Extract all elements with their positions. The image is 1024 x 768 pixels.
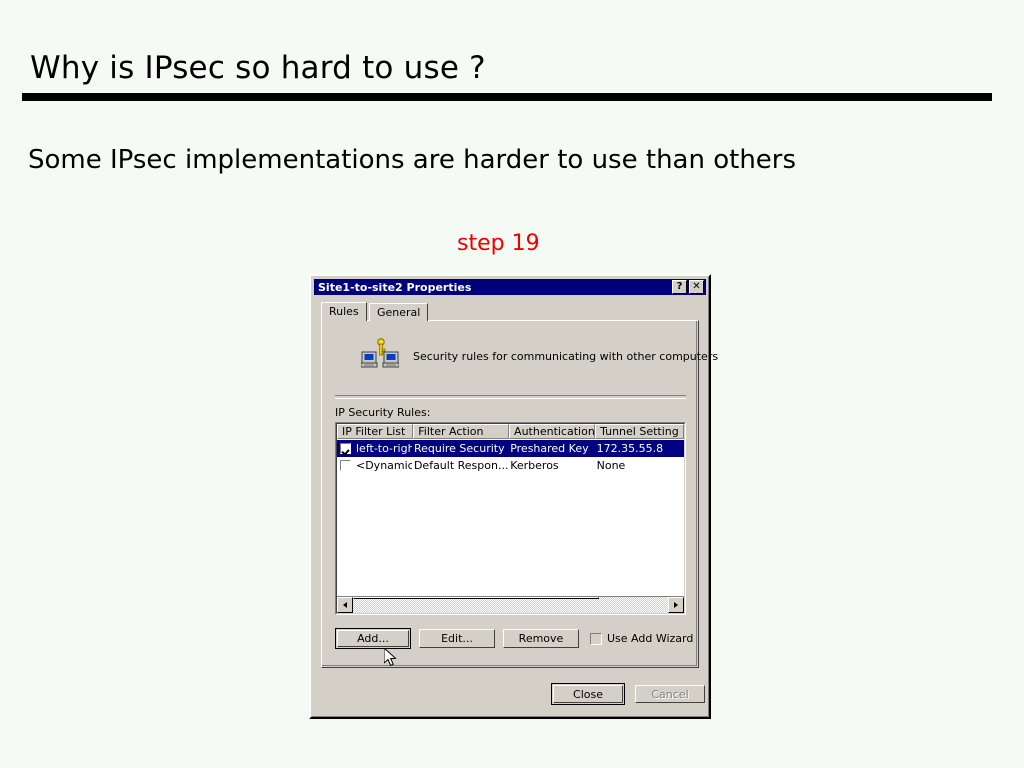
ip-security-rules-label: IP Security Rules: [335, 406, 430, 419]
listview-inner: IP Filter List Filter Action Authenticat… [336, 423, 685, 614]
table-row[interactable]: left-to-right Require Security Preshared… [337, 440, 684, 457]
properties-dialog: Site1-to-site2 Properties ? ✕ Rules Gene… [309, 274, 711, 719]
column-header-tunnel-setting[interactable]: Tunnel Setting [595, 424, 684, 439]
row-checkbox[interactable] [340, 443, 351, 454]
ip-security-rules-listview[interactable]: IP Filter List Filter Action Authenticat… [335, 422, 686, 615]
remove-button[interactable]: Remove [503, 629, 579, 648]
cell-ip-filter-list: left-to-right [354, 442, 412, 455]
cancel-button: Cancel [635, 685, 705, 703]
tab-page-rules: Security rules for communicating with ot… [321, 320, 699, 668]
column-header-filter-action[interactable]: Filter Action [413, 424, 509, 439]
cell-tunnel-setting: None [595, 459, 684, 472]
title-underline-rule [22, 93, 992, 101]
close-button[interactable]: Close [553, 685, 623, 703]
security-rules-banner: Security rules for communicating with ot… [335, 336, 686, 384]
two-computers-key-icon [361, 338, 399, 372]
step-label: step 19 [457, 231, 540, 256]
dialog-title-text: Site1-to-site2 Properties [318, 281, 471, 294]
use-add-wizard-checkbox[interactable] [590, 633, 602, 645]
scroll-left-arrow-icon[interactable] [337, 597, 353, 613]
edit-button-wrapper: Edit... [419, 628, 495, 649]
page-title: Why is IPsec so hard to use ? [30, 50, 486, 86]
cancel-button-wrapper: Cancel [633, 683, 707, 705]
tab-page-inner: Security rules for communicating with ot… [322, 321, 697, 666]
dialog-inner-frame: Site1-to-site2 Properties ? ✕ Rules Gene… [311, 276, 709, 717]
cell-authentication: Preshared Key [508, 442, 594, 455]
tab-strip: Rules General [321, 303, 699, 321]
scrollbar-track[interactable] [353, 597, 668, 613]
listview-header: IP Filter List Filter Action Authenticat… [337, 424, 684, 439]
dialog-titlebar[interactable]: Site1-to-site2 Properties ? ✕ [314, 279, 706, 295]
close-icon[interactable]: ✕ [689, 280, 704, 294]
cell-ip-filter-list: <Dynamic> [354, 459, 412, 472]
add-button[interactable]: Add... [337, 630, 409, 647]
use-add-wizard-checkbox-group[interactable]: Use Add Wizard [590, 632, 693, 645]
use-add-wizard-label: Use Add Wizard [607, 632, 693, 645]
scroll-right-arrow-icon[interactable] [668, 597, 684, 613]
row-checkbox[interactable] [340, 460, 351, 471]
remove-button-wrapper: Remove [503, 628, 579, 649]
add-button-wrapper: Add... [335, 628, 411, 649]
close-button-wrapper: Close [551, 683, 625, 705]
cell-filter-action: Require Security [412, 442, 508, 455]
cell-authentication: Kerberos [508, 459, 594, 472]
help-icon[interactable]: ? [672, 280, 687, 294]
scrollbar-thumb[interactable] [353, 597, 599, 599]
tab-rules[interactable]: Rules [321, 302, 367, 321]
horizontal-scrollbar[interactable] [337, 596, 684, 613]
column-header-authentication[interactable]: Authentication... [509, 424, 595, 439]
slide-subtitle: Some IPsec implementations are harder to… [28, 145, 796, 175]
edit-button[interactable]: Edit... [419, 629, 495, 648]
banner-description: Security rules for communicating with ot… [413, 350, 718, 363]
table-row[interactable]: <Dynamic> Default Respon... Kerberos Non… [337, 457, 684, 474]
tab-general[interactable]: General [369, 303, 428, 321]
banner-separator [335, 395, 686, 399]
titlebar-button-group: ? ✕ [672, 280, 706, 294]
cell-tunnel-setting: 172.35.55.8 [595, 442, 684, 455]
mouse-cursor-icon [384, 648, 398, 668]
column-header-ip-filter-list[interactable]: IP Filter List [337, 424, 413, 439]
cell-filter-action: Default Respon... [412, 459, 508, 472]
